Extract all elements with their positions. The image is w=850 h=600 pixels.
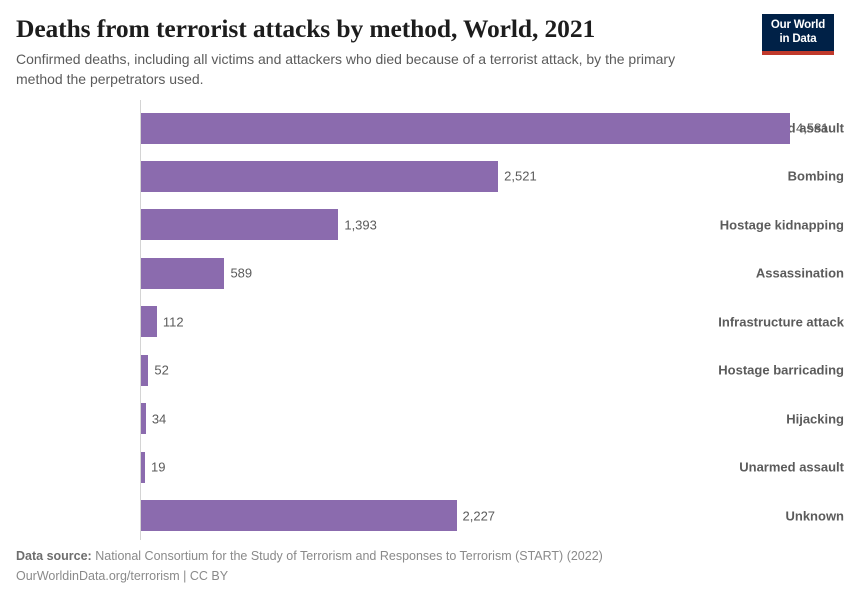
bar-rect[interactable] [141,403,146,434]
attribution-line[interactable]: OurWorldinData.org/terrorism | CC BY [16,566,834,586]
bar-category-label: Unarmed assault [710,460,850,475]
bar-value-label: 19 [151,460,165,475]
data-source-label: Data source: [16,549,92,563]
chart-figure: Deaths from terrorist attacks by method,… [0,0,850,600]
bar-row[interactable]: Hijacking34 [0,403,850,434]
bar-category-label: Hostage barricading [710,363,850,378]
bar-value-label: 589 [230,266,252,281]
bar-value-label: 1,393 [344,217,377,232]
bar-row[interactable]: Hostage kidnapping1,393 [0,209,850,240]
bar-category-label: Unknown [710,508,850,523]
bar-rect[interactable] [141,258,224,289]
bar-category-label: Hostage kidnapping [710,217,850,232]
chart-header: Deaths from terrorist attacks by method,… [0,0,850,90]
bar-row[interactable]: Unknown2,227 [0,500,850,531]
chart-footer: Data source: National Consortium for the… [0,546,850,600]
bar-value-label: 2,521 [504,169,537,184]
our-world-in-data-logo[interactable]: Our World in Data [762,14,834,55]
bar-rect[interactable] [141,452,145,483]
bar-category-label: Infrastructure attack [710,314,850,329]
data-source-text: National Consortium for the Study of Ter… [95,549,603,563]
bar-rect[interactable] [141,355,148,386]
bar-row[interactable]: Armed assault4,581 [0,113,850,144]
bar-value-label: 4,581 [796,121,829,136]
bar-value-label: 52 [154,363,168,378]
bar-category-label: Assassination [710,266,850,281]
bar-rect[interactable] [141,500,457,531]
chart-subtitle: Confirmed deaths, including all victims … [16,50,721,90]
bar-chart: Armed assault4,581Bombing2,521Hostage ki… [0,100,850,546]
logo-line-1: Our World [766,19,830,33]
bar-rect[interactable] [141,113,790,144]
chart-plot-area: Armed assault4,581Bombing2,521Hostage ki… [0,100,850,546]
data-source-line: Data source: National Consortium for the… [16,546,834,566]
bar-row[interactable]: Hostage barricading52 [0,355,850,386]
logo-line-2: in Data [766,33,830,47]
bar-value-label: 112 [163,314,184,329]
bar-rect[interactable] [141,161,498,192]
bar-row[interactable]: Bombing2,521 [0,161,850,192]
bar-row[interactable]: Infrastructure attack112 [0,306,850,337]
bar-row[interactable]: Unarmed assault19 [0,452,850,483]
bar-rect[interactable] [141,306,157,337]
bar-value-label: 2,227 [463,508,496,523]
bar-row[interactable]: Assassination589 [0,258,850,289]
bar-category-label: Hijacking [710,411,850,426]
page-title: Deaths from terrorist attacks by method,… [16,14,834,44]
bar-category-label: Bombing [710,169,850,184]
bar-rect[interactable] [141,209,338,240]
bar-value-label: 34 [152,411,166,426]
